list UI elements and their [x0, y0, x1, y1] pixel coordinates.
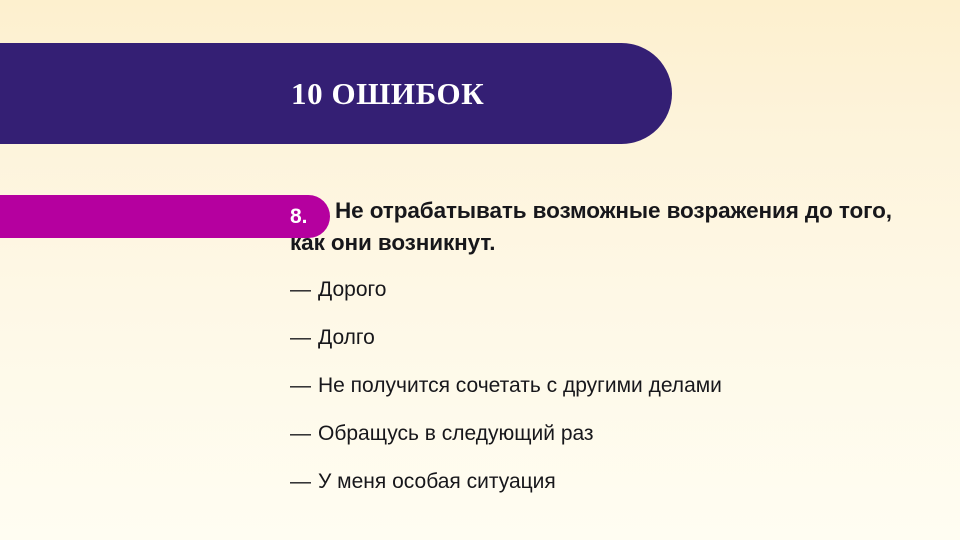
list-item: —Обращусь в следующий раз	[290, 421, 930, 447]
em-dash-bullet-icon: —	[290, 421, 311, 447]
em-dash-bullet-icon: —	[290, 325, 311, 351]
page-title: 10 ОШИБОК	[291, 78, 484, 109]
em-dash-bullet-icon: —	[290, 277, 311, 303]
list-item-label: Дорого	[318, 278, 386, 301]
title-banner: 10 ОШИБОК	[0, 43, 672, 144]
list-item: —Дорого	[290, 277, 930, 303]
list-item-label: Обращусь в следующий раз	[318, 422, 594, 445]
item-heading: Не отрабатывать возможные возражения до …	[290, 195, 930, 259]
list-item-label: У меня особая ситуация	[318, 470, 556, 493]
item-number-banner: 8.	[0, 195, 330, 238]
content-block: Не отрабатывать возможные возражения до …	[290, 195, 930, 495]
list-item: —Не получится сочетать с другими делами	[290, 373, 930, 399]
slide-root: 10 ОШИБОК 8. Не отрабатывать возможные в…	[0, 0, 960, 540]
list-item-label: Долго	[318, 326, 375, 349]
list-item: —Долго	[290, 325, 930, 351]
objection-list: —Дорого —Долго —Не получится сочетать с …	[290, 277, 930, 495]
em-dash-bullet-icon: —	[290, 373, 311, 399]
list-item: —У меня особая ситуация	[290, 469, 930, 495]
em-dash-bullet-icon: —	[290, 469, 311, 495]
list-item-label: Не получится сочетать с другими делами	[318, 374, 722, 397]
item-heading-text: Не отрабатывать возможные возражения до …	[290, 198, 892, 255]
